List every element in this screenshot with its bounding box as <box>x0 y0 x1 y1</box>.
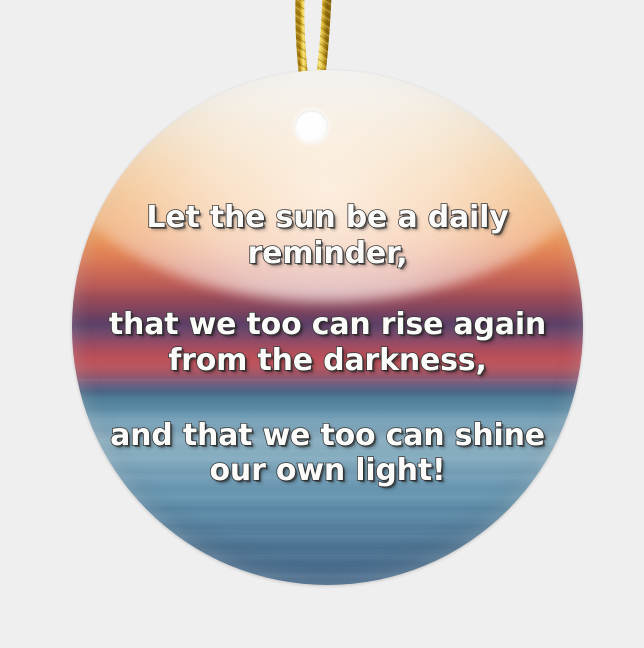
ornament-hanging-hole <box>295 110 328 143</box>
ornament-scene: Let the sun be a daily reminder, that we… <box>0 0 644 644</box>
ornament-disc <box>72 70 583 585</box>
disc-rim-shading <box>72 70 583 585</box>
